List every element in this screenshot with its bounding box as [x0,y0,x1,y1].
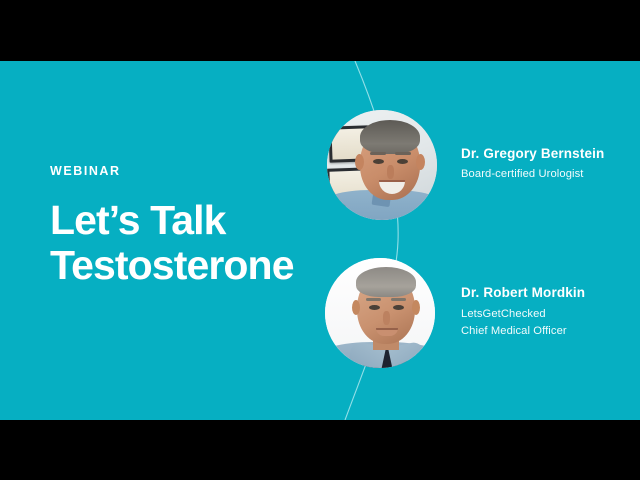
avatar-brow-right [395,152,411,155]
page-title: Let’s Talk Testosterone [50,198,294,290]
video-frame: WEBINAR Let’s Talk Testosterone [0,0,640,480]
avatar-brow-right [391,298,406,301]
avatar-nose [387,165,394,179]
avatar-ear-right [416,154,425,170]
speaker-row: Dr. Gregory Bernstein Board-certified Ur… [327,110,604,220]
speaker-caption: Dr. Gregory Bernstein Board-certified Ur… [461,147,604,184]
avatar-brow-left [370,152,386,155]
headline-block: WEBINAR Let’s Talk Testosterone [50,165,294,289]
avatar-eye-left [369,305,380,310]
letterbox-bar-top [0,0,640,61]
avatar-nose [383,311,390,325]
avatar-hair [356,267,416,297]
webinar-title-slide: WEBINAR Let’s Talk Testosterone [0,61,640,420]
speaker-row: Dr. Robert Mordkin LetsGetChecked Chief … [325,258,585,368]
speaker-meta-line: LetsGetChecked [461,306,585,323]
speaker-caption: Dr. Robert Mordkin LetsGetChecked Chief … [461,286,585,340]
avatar-hair [360,120,420,154]
speaker-meta-line: Chief Medical Officer [461,323,585,340]
avatar-eye-right [393,305,404,310]
avatar-eye-right [397,159,408,164]
speaker-name: Dr. Gregory Bernstein [461,147,604,161]
avatar-ear-right [412,300,420,315]
avatar-mordkin [325,258,435,368]
avatar-bernstein [327,110,437,220]
eyebrow-label: WEBINAR [50,165,294,178]
avatar-ear-left [352,300,360,315]
avatar-eye-left [373,159,384,164]
speaker-name: Dr. Robert Mordkin [461,286,585,300]
letterbox-bar-bottom [0,420,640,480]
avatar-ear-left [355,154,364,170]
avatar-brow-left [366,298,381,301]
speaker-meta-line: Board-certified Urologist [461,166,604,183]
